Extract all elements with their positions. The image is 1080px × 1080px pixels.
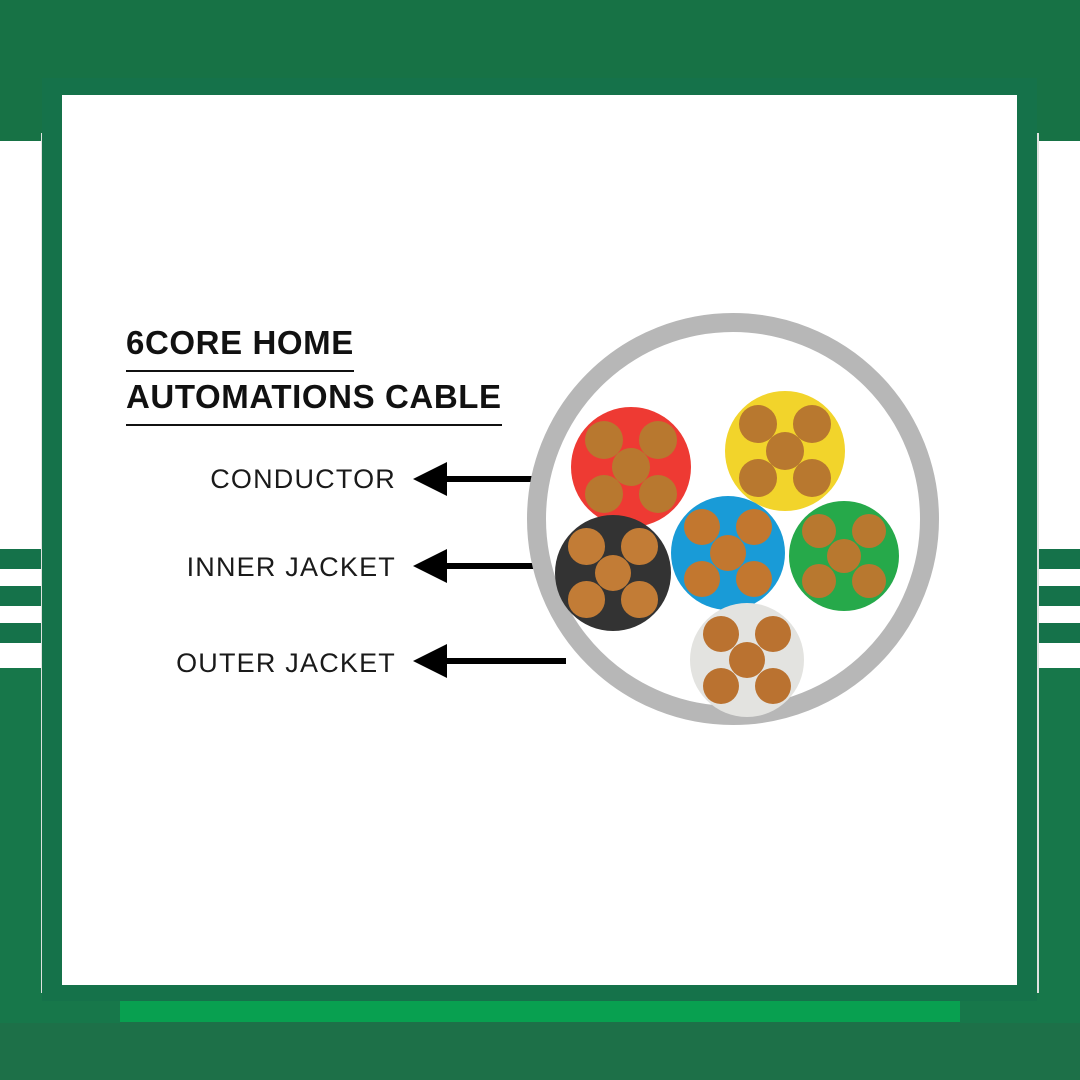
conductor-strand (621, 528, 658, 565)
conductor-strand (852, 514, 887, 549)
core-black (555, 515, 671, 631)
conductor-strand (755, 616, 791, 652)
conductor-strand (793, 405, 831, 443)
conductor-strand (684, 561, 720, 597)
conductor-strand (585, 475, 623, 513)
callout-label-outer-jacket: OUTER JACKET (0, 648, 396, 679)
cable-cross-section-diagram (527, 313, 939, 725)
core-blue (671, 496, 785, 610)
core-yellow (725, 391, 845, 511)
callout-label-conductor: CONDUCTOR (0, 464, 396, 495)
conductor-strand (703, 668, 739, 704)
callout-label-inner-jacket: INNER JACKET (0, 552, 396, 583)
page-title: 6CORE HOME AUTOMATIONS CABLE (126, 318, 556, 426)
poster-canvas: 6CORE HOME AUTOMATIONS CABLE CONDUCTOR I… (0, 0, 1080, 1080)
conductor-strand (568, 581, 605, 618)
conductor-strand (852, 564, 887, 599)
conductor-strand (793, 459, 831, 497)
conductor-strand (802, 564, 837, 599)
core-red (571, 407, 691, 527)
conductor-strand (621, 581, 658, 618)
page-title-line-2: AUTOMATIONS CABLE (126, 372, 502, 426)
conductor-strand (639, 475, 677, 513)
conductor-strand (736, 509, 772, 545)
core-green (789, 501, 899, 611)
page-title-line-1: 6CORE HOME (126, 318, 354, 372)
conductor-strand (639, 421, 677, 459)
core-white (690, 603, 804, 717)
conductor-strand (736, 561, 772, 597)
poster-content: 6CORE HOME AUTOMATIONS CABLE CONDUCTOR I… (0, 0, 1080, 1080)
conductor-strand (739, 459, 777, 497)
conductor-strand (755, 668, 791, 704)
